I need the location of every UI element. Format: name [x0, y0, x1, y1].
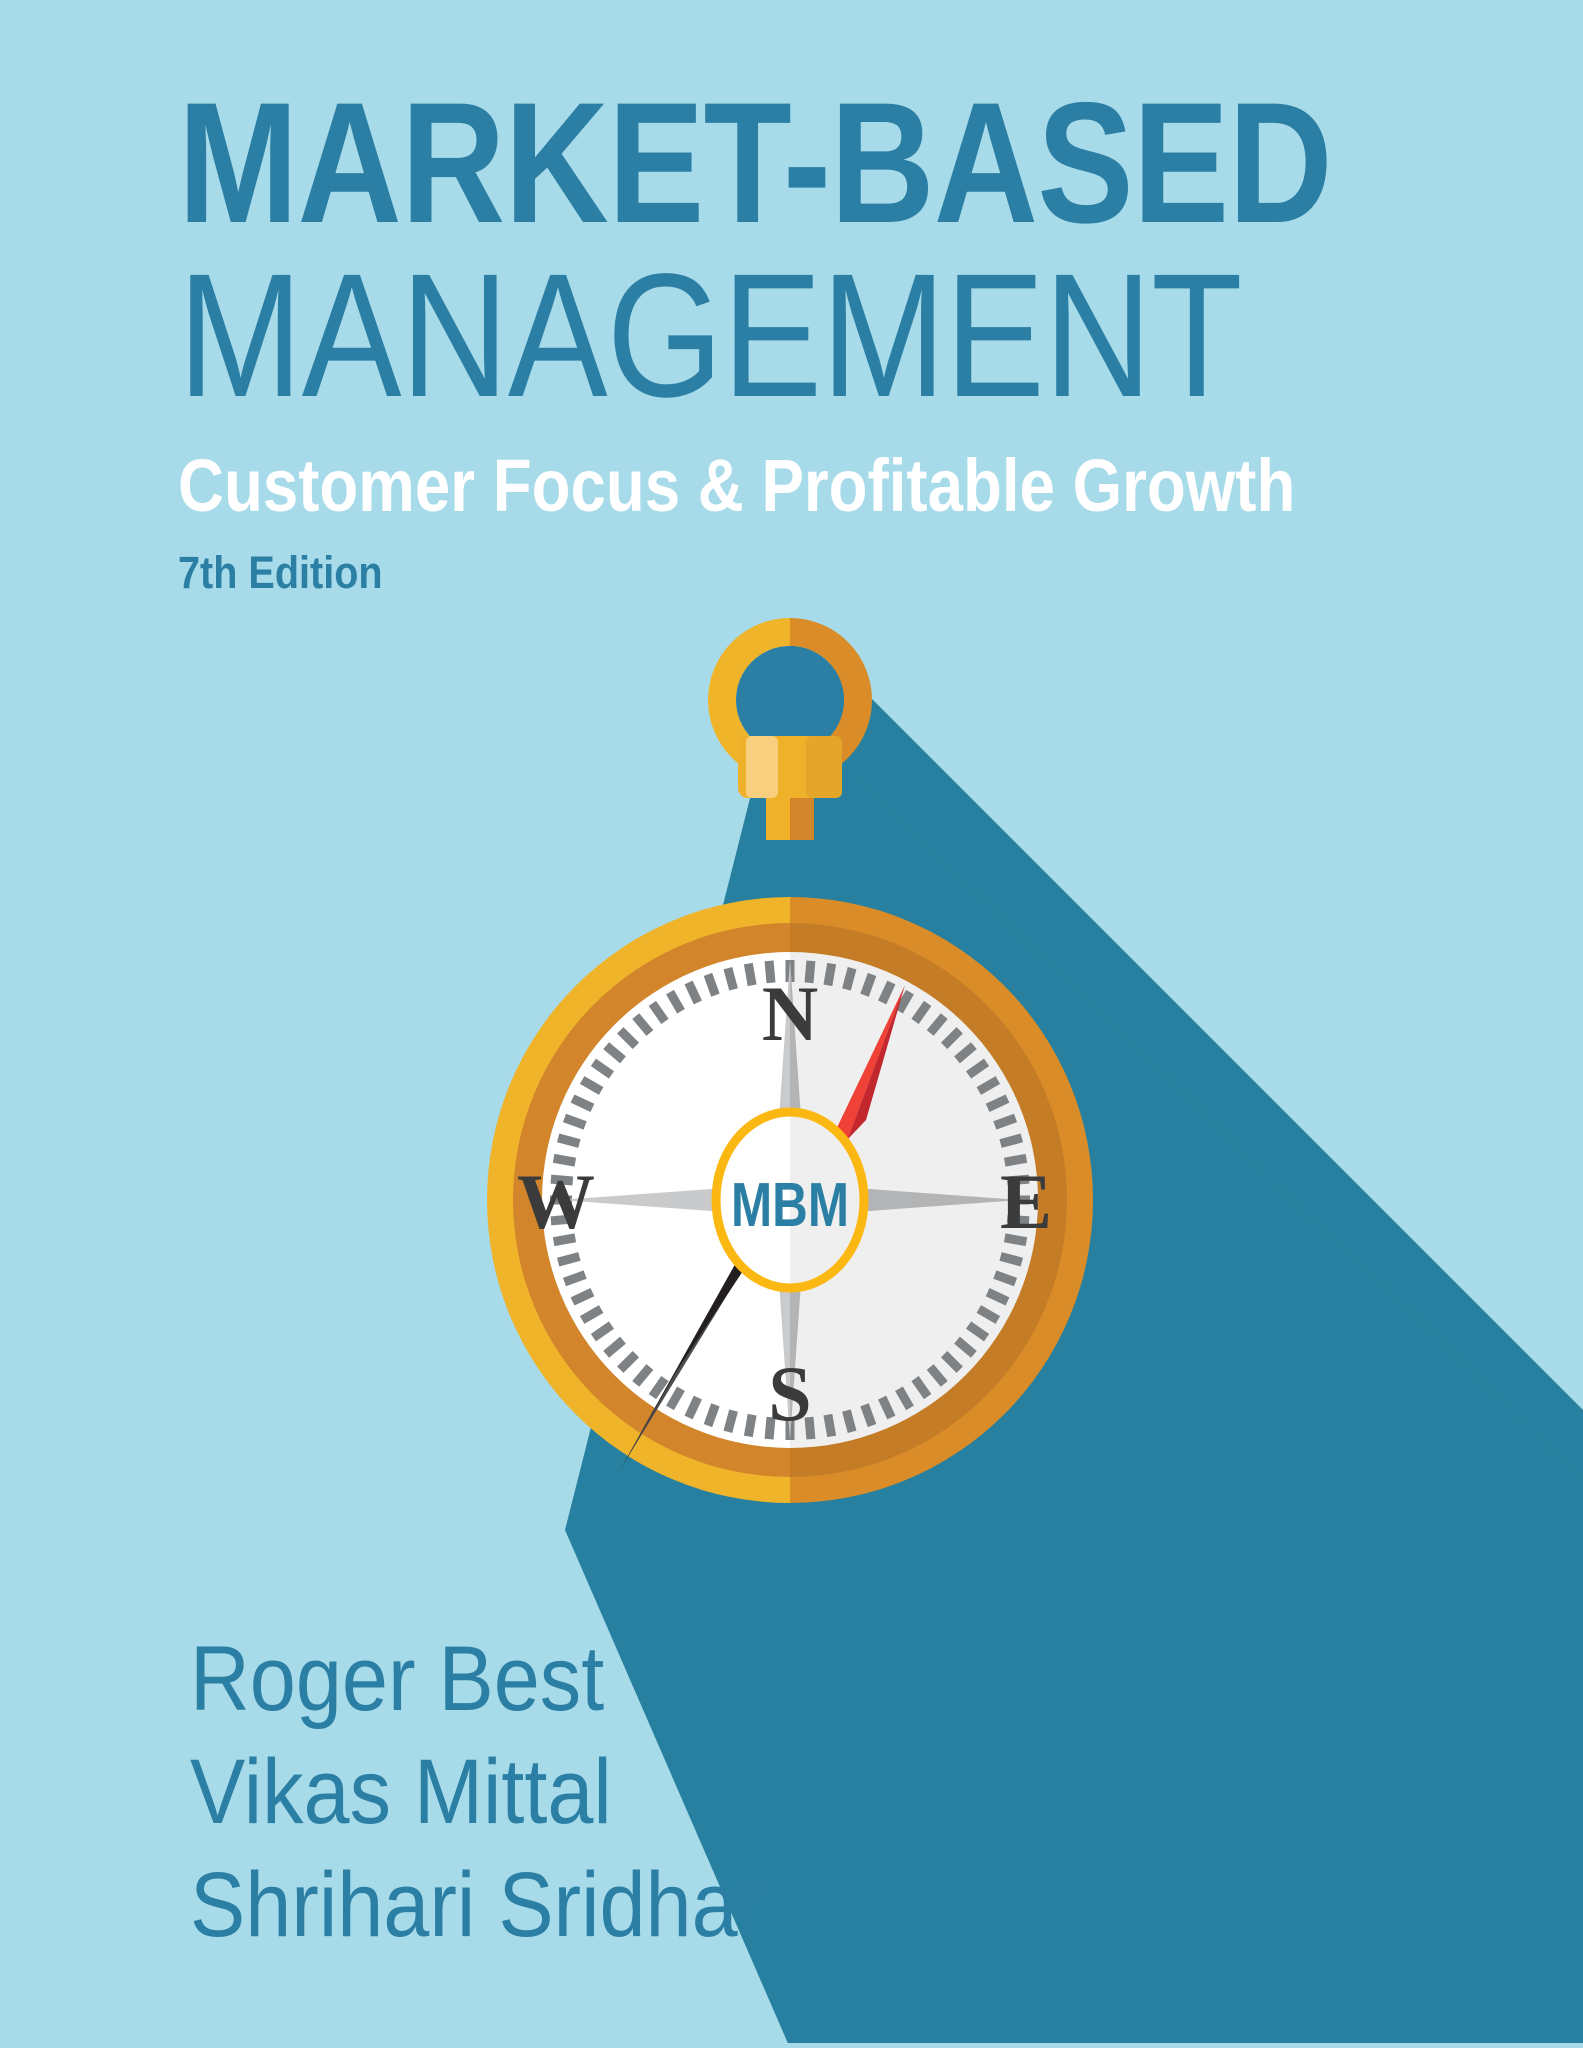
crown-stem	[766, 700, 814, 840]
medallion-fill-dark	[716, 1112, 864, 1288]
tick-mark	[969, 1325, 987, 1338]
tick-mark	[620, 1354, 636, 1370]
crown-ring-dark	[722, 632, 858, 768]
tick-mark	[979, 1080, 998, 1091]
tick-mark	[582, 1080, 601, 1091]
tick-mark	[652, 1379, 665, 1397]
tick-mark	[670, 1389, 681, 1408]
tick-mark	[670, 992, 681, 1011]
tick-mark	[969, 1062, 987, 1075]
title-block: MARKET-BASED MANAGEMENT Customer Focus &…	[178, 88, 1438, 598]
tick-mark	[572, 1292, 592, 1301]
bezel-light	[513, 923, 1067, 1477]
tick-mark	[689, 982, 698, 1002]
tick-mark	[582, 1309, 601, 1320]
tick-mark	[944, 1354, 960, 1370]
star-south-shade	[790, 1200, 806, 1440]
bezel-dark	[513, 923, 1067, 1477]
tick-mark	[995, 1275, 1016, 1283]
tick-mark	[882, 1398, 891, 1418]
crown-base-highlight	[746, 736, 778, 798]
author-name: Roger Best	[190, 1623, 765, 1736]
crown-stem-shade	[790, 700, 814, 840]
tick-mark	[769, 961, 771, 983]
star-north-shade	[790, 960, 806, 1200]
edition-label: 7th Edition	[178, 548, 1287, 598]
compass-needles	[620, 985, 905, 1470]
tick-mark	[1001, 1256, 1022, 1262]
tick-mark	[708, 1405, 716, 1426]
needle-dark-shade	[620, 1200, 790, 1470]
tick-mark	[846, 968, 852, 989]
tick-mark	[899, 1389, 910, 1408]
book-cover: N E S W MBM MARKET-BASED MANAGEMENT Cust…	[0, 0, 1583, 2048]
tick-mark	[979, 1309, 998, 1320]
tick-mark	[728, 1411, 734, 1432]
tick-mark	[606, 1046, 623, 1060]
tick-mark	[564, 1118, 585, 1126]
tick-mark	[728, 968, 734, 989]
tick-mark	[572, 1099, 592, 1108]
needle-dark	[620, 1200, 790, 1470]
bottom-edge-strip	[0, 2043, 1583, 2048]
star-west	[560, 1184, 790, 1216]
tick-mark	[809, 1417, 811, 1439]
compass-crown	[722, 632, 858, 840]
crown-base	[738, 736, 842, 798]
medallion-fill-light	[716, 1112, 864, 1288]
tick-marks	[550, 960, 1030, 1440]
star-north	[774, 960, 806, 1200]
tick-mark	[809, 961, 811, 983]
tick-mark	[554, 1158, 576, 1162]
tick-mark	[606, 1340, 623, 1354]
face-light	[542, 952, 1038, 1448]
page-subtitle: Customer Focus & Profitable Growth	[178, 446, 1262, 526]
author-list: Roger Best Vikas Mittal Shrihari Sridhar	[190, 1623, 829, 1962]
tick-mark	[944, 1030, 960, 1046]
tick-mark	[708, 974, 716, 995]
tick-mark	[564, 1275, 585, 1283]
tick-mark	[828, 964, 832, 986]
cardinal-north: N	[762, 970, 818, 1057]
tick-mark	[689, 1398, 698, 1418]
tick-mark	[865, 1405, 873, 1426]
face-dark	[542, 952, 1038, 1448]
tick-mark	[899, 992, 910, 1011]
tick-mark	[930, 1367, 944, 1384]
star-south	[774, 1200, 806, 1440]
crown-ring-light	[722, 632, 858, 768]
compass-star	[560, 960, 1020, 1440]
tick-mark	[593, 1325, 611, 1338]
tick-mark	[988, 1292, 1008, 1301]
crown-interior	[736, 646, 844, 754]
page-title-line-2: MANAGEMENT	[178, 250, 1249, 422]
tick-mark	[769, 1417, 771, 1439]
tick-mark	[558, 1138, 579, 1144]
needle-red-shade	[790, 985, 905, 1200]
tick-mark	[558, 1256, 579, 1262]
author-name: Vikas Mittal	[190, 1736, 765, 1849]
tick-mark	[988, 1099, 1008, 1108]
tick-mark	[915, 1379, 928, 1397]
tick-mark	[748, 964, 752, 986]
page-title-line-1: MARKET-BASED	[178, 88, 1236, 238]
tick-mark	[995, 1118, 1016, 1126]
crown-base-shade	[806, 736, 842, 798]
author-name: Shrihari Sridhar	[190, 1849, 765, 1962]
case-outer-light	[487, 897, 1093, 1503]
mbm-logo-text: MBM	[731, 1171, 849, 1240]
tick-mark	[1007, 1219, 1029, 1221]
medallion-ring	[716, 1112, 864, 1288]
tick-mark	[882, 982, 891, 1002]
tick-mark	[846, 1411, 852, 1432]
tick-mark	[551, 1219, 573, 1221]
shadow-crown	[742, 665, 1583, 1480]
tick-mark	[620, 1030, 636, 1046]
tick-mark	[957, 1046, 974, 1060]
tick-mark	[1005, 1158, 1027, 1162]
needle-red	[790, 985, 905, 1200]
tick-mark	[1001, 1138, 1022, 1144]
tick-mark	[652, 1003, 665, 1021]
mbm-medallion: MBM	[716, 1112, 864, 1288]
tick-mark	[636, 1367, 650, 1384]
cardinal-east: E	[1000, 1158, 1052, 1245]
tick-mark	[554, 1238, 576, 1242]
star-east	[790, 1184, 1020, 1216]
tick-mark	[957, 1340, 974, 1354]
cardinal-south: S	[768, 1350, 811, 1437]
tick-mark	[748, 1415, 752, 1437]
tick-mark	[593, 1062, 611, 1075]
tick-mark	[915, 1003, 928, 1021]
tick-mark	[636, 1016, 650, 1033]
tick-mark	[828, 1415, 832, 1437]
tick-mark	[930, 1016, 944, 1033]
cardinal-west: W	[517, 1158, 595, 1245]
tick-mark	[1005, 1238, 1027, 1242]
tick-mark	[865, 974, 873, 995]
case-outer-dark	[487, 897, 1093, 1503]
tick-mark	[551, 1179, 573, 1181]
tick-mark	[1007, 1179, 1029, 1181]
